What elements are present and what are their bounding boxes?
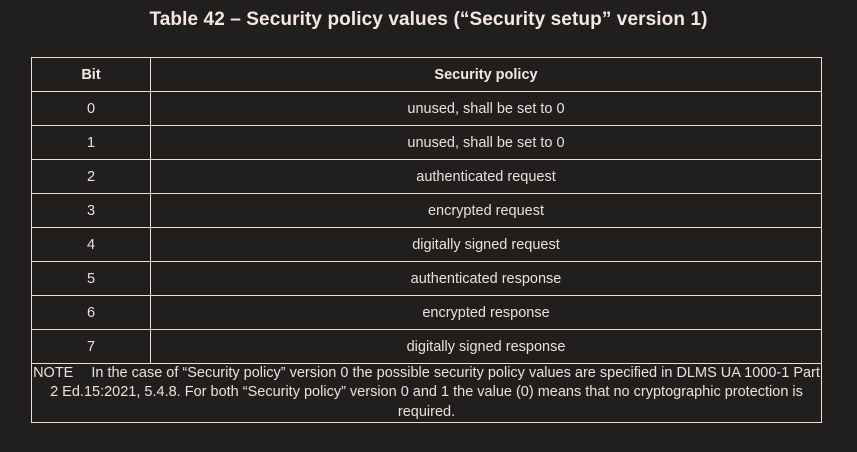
cell-policy: unused, shall be set to 0 (151, 92, 822, 126)
cell-bit: 2 (32, 160, 151, 194)
cell-policy: encrypted response (151, 296, 822, 330)
table-row: 1 unused, shall be set to 0 (32, 126, 822, 160)
column-header-bit: Bit (32, 58, 151, 92)
table-body: 0 unused, shall be set to 0 1 unused, sh… (32, 92, 822, 423)
cell-policy: authenticated request (151, 160, 822, 194)
table-row: 5 authenticated response (32, 262, 822, 296)
document-page: Table 42 – Security policy values (“Secu… (0, 0, 857, 452)
table-note-row: NOTEIn the case of “Security policy” ver… (32, 364, 822, 423)
cell-policy: encrypted request (151, 194, 822, 228)
cell-bit: 6 (32, 296, 151, 330)
table-row: 3 encrypted request (32, 194, 822, 228)
note-label: NOTE (33, 365, 73, 381)
table-caption: Table 42 – Security policy values (“Secu… (0, 9, 857, 31)
cell-policy: unused, shall be set to 0 (151, 126, 822, 160)
cell-bit: 4 (32, 228, 151, 262)
table-header: Bit Security policy (32, 58, 822, 92)
table-row: 7 digitally signed response (32, 330, 822, 364)
cell-bit: 5 (32, 262, 151, 296)
cell-bit: 0 (32, 92, 151, 126)
table-row: 4 digitally signed request (32, 228, 822, 262)
cell-policy: authenticated response (151, 262, 822, 296)
cell-policy: digitally signed response (151, 330, 822, 364)
note-text: In the case of “Security policy” version… (50, 365, 820, 420)
cell-bit: 7 (32, 330, 151, 364)
table-note-cell: NOTEIn the case of “Security policy” ver… (32, 364, 822, 423)
table-row: 2 authenticated request (32, 160, 822, 194)
security-policy-table: Bit Security policy 0 unused, shall be s… (31, 57, 822, 423)
table-header-row: Bit Security policy (32, 58, 822, 92)
column-header-security-policy: Security policy (151, 58, 822, 92)
cell-bit: 1 (32, 126, 151, 160)
table-row: 6 encrypted response (32, 296, 822, 330)
cell-bit: 3 (32, 194, 151, 228)
table-row: 0 unused, shall be set to 0 (32, 92, 822, 126)
cell-policy: digitally signed request (151, 228, 822, 262)
